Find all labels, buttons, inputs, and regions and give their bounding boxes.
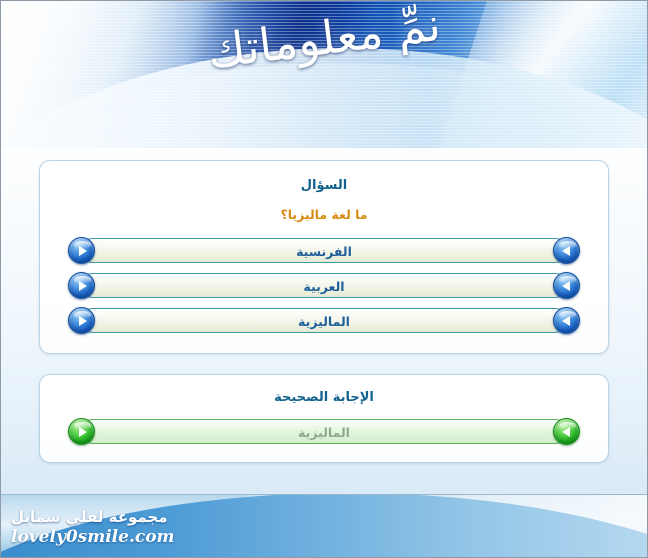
content-area: السؤال ما لغة ماليزيا؟ الفرنسية العربية [1,148,647,495]
footer-banner: مجموعة لفلي سمايل lovely0smile.com [1,494,647,557]
option-row[interactable]: الفرنسية [68,238,580,263]
option-label: العربية [81,274,567,299]
header-banner: نمِّ معلوماتك [1,1,647,148]
correct-answer-pill: الماليزية [80,419,568,444]
play-right-icon[interactable] [553,272,580,299]
footer-brand-arabic: مجموعة لفلي سمايل [11,508,168,526]
play-right-icon[interactable] [553,307,580,334]
play-left-icon[interactable] [68,307,95,334]
option-label: الفرنسية [81,239,567,264]
option-pill[interactable]: الفرنسية [80,238,568,263]
answer-heading: الإجابة الصحيحة [56,390,592,405]
question-panel: السؤال ما لغة ماليزيا؟ الفرنسية العربية [39,160,609,354]
option-pill[interactable]: الماليزية [80,308,568,333]
option-pill[interactable]: العربية [80,273,568,298]
correct-answer-row: الماليزية [68,419,580,444]
footer-brand-site[interactable]: lovely0smile.com [11,527,175,547]
play-left-icon[interactable] [68,272,95,299]
play-left-icon[interactable] [68,418,95,445]
answer-panel: الإجابة الصحيحة الماليزية [39,374,609,463]
option-row[interactable]: الماليزية [68,308,580,333]
play-right-icon[interactable] [553,237,580,264]
option-label: الماليزية [81,309,567,334]
option-row[interactable]: العربية [68,273,580,298]
play-right-icon[interactable] [553,418,580,445]
question-heading: السؤال [56,178,592,193]
quiz-window: نمِّ معلوماتك lovely0smile.com السؤال ما… [0,0,648,558]
question-text: ما لغة ماليزيا؟ [56,207,592,222]
correct-answer-label: الماليزية [81,420,567,445]
play-left-icon[interactable] [68,237,95,264]
